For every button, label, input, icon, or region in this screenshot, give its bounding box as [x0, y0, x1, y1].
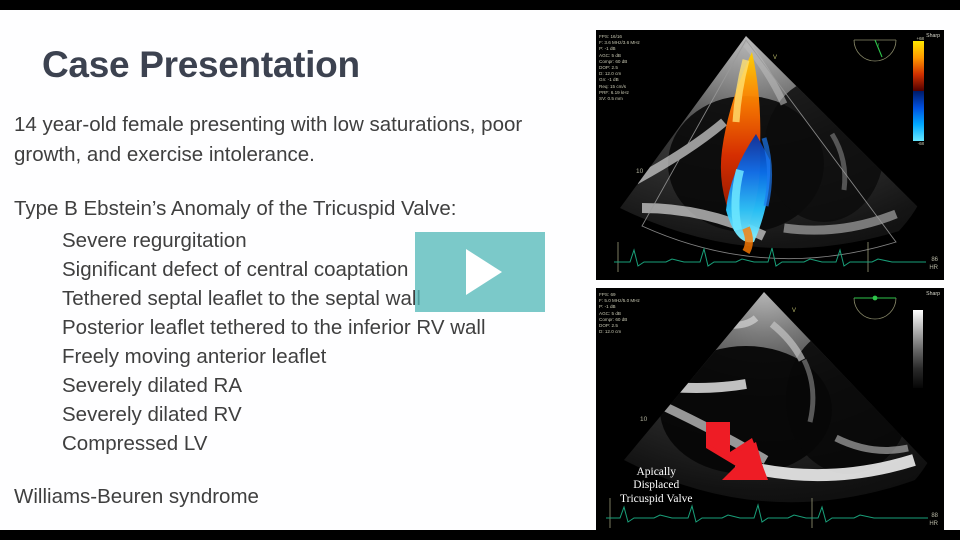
slide-canvas: Case Presentation 14 year-old female pre…	[0, 10, 960, 530]
sector-angle-indicator-top: V	[852, 36, 898, 62]
play-button[interactable]	[415, 232, 545, 312]
depth-marker-top: 10	[636, 168, 643, 175]
annotation-line-1: Apically	[620, 466, 693, 480]
v-marker-top: V	[773, 55, 777, 61]
video-frame: Case Presentation 14 year-old female pre…	[0, 0, 960, 540]
annotation-line-3: Tricuspid Valve	[620, 493, 693, 507]
echo-image-2d[interactable]: FPS: 69 F: 5.0 MHz/5.0 MHz P: -1 dB AGC:…	[596, 288, 944, 536]
svg-text:V: V	[876, 43, 880, 49]
grayscale-scale-bar	[913, 310, 923, 388]
list-item: Severely dilated RV	[62, 400, 592, 429]
page-title: Case Presentation	[42, 44, 360, 86]
ecg-trace-top	[596, 240, 944, 274]
colorbar-bottom-label: -68	[918, 141, 924, 146]
intro-paragraph: 14 year-old female presenting with low s…	[14, 110, 589, 170]
echo-parameters-top: FPS: 16/16 F: 3.6 MHz/3.6 MHz P: -1 dB A…	[599, 34, 640, 102]
play-triangle-icon	[466, 249, 502, 295]
diagnosis-heading: Type B Ebstein’s Anomaly of the Tricuspi…	[14, 197, 457, 221]
list-item: Freely moving anterior leaflet	[62, 342, 592, 371]
echo-image-color-doppler[interactable]: FPS: 16/16 F: 3.6 MHz/3.6 MHz P: -1 dB A…	[596, 30, 944, 280]
syndrome-label: Williams-Beuren syndrome	[14, 485, 259, 509]
depth-marker-bottom: 10	[640, 416, 647, 423]
echo-annotation-label: Apically Displaced Tricuspid Valve	[620, 466, 693, 507]
sharp-label-top: Sharp	[926, 33, 940, 39]
red-arrow-icon	[696, 418, 782, 496]
list-item: Posterior leaflet tethered to the inferi…	[62, 313, 592, 342]
colorbar-top-label: +68	[917, 36, 924, 41]
color-doppler-scale-bar: +68 -68	[913, 41, 924, 141]
letterbox-top	[0, 0, 960, 10]
list-item: Compressed LV	[62, 429, 592, 458]
echo-parameters-bottom: FPS: 69 F: 5.0 MHz/5.0 MHz P: -1 dB AGC:…	[599, 292, 640, 335]
sharp-label-bottom: Sharp	[926, 291, 940, 297]
sector-angle-indicator-bottom	[852, 294, 898, 320]
annotation-line-2: Displaced	[620, 479, 693, 493]
v-marker-bottom: V	[792, 308, 796, 314]
list-item: Severely dilated RA	[62, 371, 592, 400]
